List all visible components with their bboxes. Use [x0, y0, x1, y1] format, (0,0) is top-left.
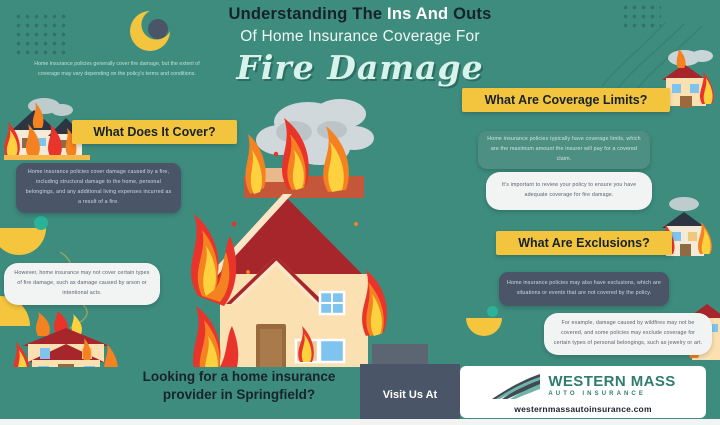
teal-dot-right: [487, 306, 498, 317]
bottom-white-strip: [0, 419, 720, 425]
infographic-poster: Understanding The Ins And Outs Of Home I…: [0, 0, 720, 425]
headline-line-1: Understanding The Ins And Outs: [0, 5, 720, 24]
headline-part-2: Ins And: [387, 5, 453, 23]
headline-part-3: Outs: [453, 5, 491, 23]
card-limits-1: Home insurance policies typically have c…: [478, 131, 650, 169]
teal-dot-left: [34, 216, 48, 230]
banner-exclusions[interactable]: What Are Exclusions?: [496, 231, 672, 255]
visit-us-at-label: Visit Us At: [383, 389, 437, 401]
banner-coverage-limits-label: What Are Coverage Limits?: [485, 93, 648, 107]
logo-website-url[interactable]: westernmassautoinsurance.com: [514, 404, 651, 414]
card-cover-1: Home insurance policies cover damage cau…: [16, 163, 181, 213]
banner-exclusions-label: What Are Exclusions?: [518, 236, 650, 250]
card-exclusions-2: For example, damage caused by wildfires …: [544, 313, 712, 355]
half-circle-left: [0, 228, 46, 255]
banner-what-does-it-cover[interactable]: What Does It Cover?: [72, 120, 237, 144]
card-exclusions-1-text: Home insurance policies may also have ex…: [507, 279, 661, 299]
visit-us-at-box: Visit Us At: [360, 364, 460, 425]
card-cover-1-text: Home insurance policies cover damage cau…: [24, 168, 173, 207]
logo-brand-line-1: WESTERN MASS: [548, 374, 675, 389]
logo-row: WESTERN MASS AUTO INSURANCE: [490, 371, 675, 401]
logo-brand: WESTERN MASS AUTO INSURANCE: [548, 374, 675, 397]
intro-paragraph: Home insurance policies generally cover …: [32, 60, 202, 80]
headline-part-1: Understanding The: [229, 5, 388, 23]
footer-cta: Looking for a home insurance provider in…: [118, 368, 360, 404]
road-highway-icon: [490, 371, 542, 401]
half-circle-right: [466, 318, 502, 336]
company-logo-box[interactable]: WESTERN MASS AUTO INSURANCE westernmassa…: [460, 366, 706, 418]
logo-brand-line-2: AUTO INSURANCE: [548, 391, 675, 397]
footer-cta-line-2: provider in Springfield?: [118, 386, 360, 404]
card-cover-2: However, home insurance may not cover ce…: [4, 263, 160, 305]
card-limits-2: It's important to review your policy to …: [486, 172, 652, 210]
card-exclusions-1: Home insurance policies may also have ex…: [499, 272, 669, 306]
card-cover-2-text: However, home insurance may not cover ce…: [12, 269, 152, 298]
card-limits-1-text: Home insurance policies typically have c…: [486, 135, 642, 164]
card-exclusions-2-text: For example, damage caused by wildfires …: [552, 319, 704, 348]
banner-what-does-it-cover-label: What Does It Cover?: [93, 125, 215, 139]
footer-cta-line-1: Looking for a home insurance: [118, 368, 360, 386]
headline-line-2: Of Home Insurance Coverage For: [0, 28, 720, 46]
banner-coverage-limits[interactable]: What Are Coverage Limits?: [462, 88, 670, 112]
card-limits-2-text: It's important to review your policy to …: [494, 181, 644, 201]
